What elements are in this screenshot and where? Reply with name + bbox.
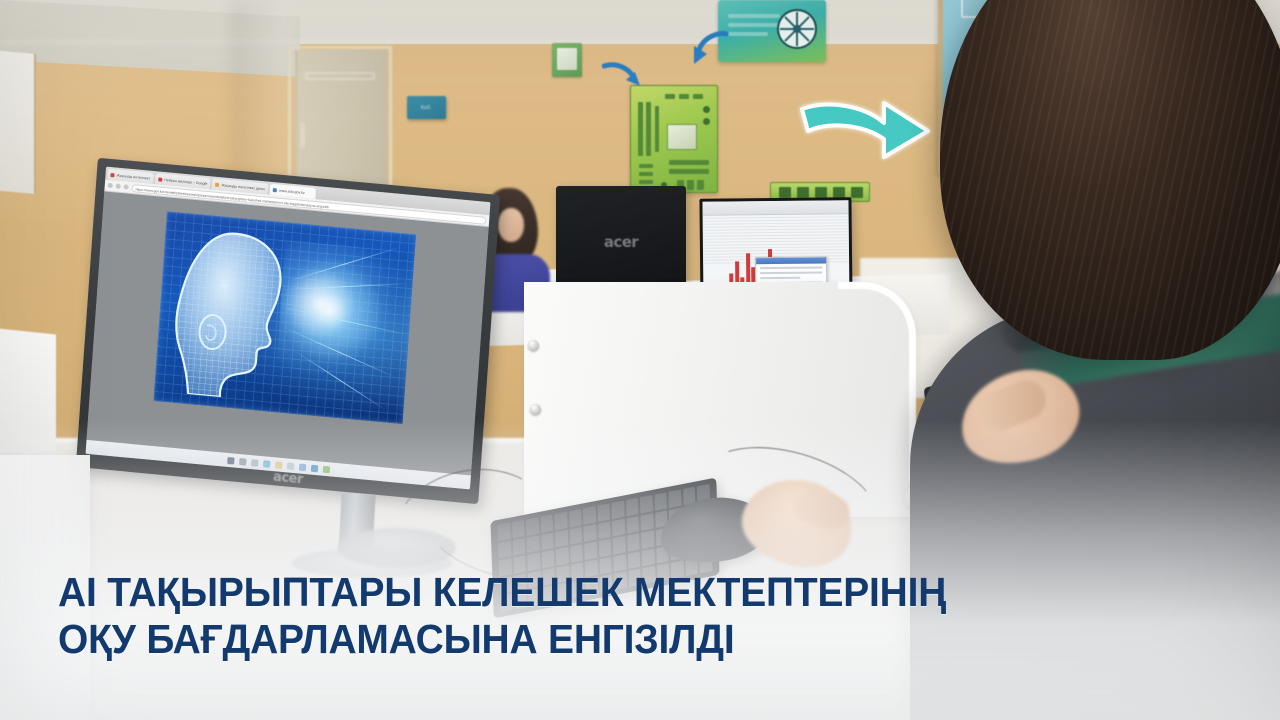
browser-tab-label: Жасанды интеллект (116, 173, 150, 180)
reload-icon[interactable] (124, 184, 129, 189)
door-sign-label: Каб. (421, 105, 432, 111)
taskbar-start-icon[interactable] (227, 456, 234, 464)
browser-tab-label: Нейрон желілері – Google (164, 177, 207, 185)
ai-neural-head-image (153, 211, 416, 424)
whiteboard (0, 50, 36, 194)
wireframe-head-icon (168, 225, 307, 404)
arrow-blue-medium-icon (690, 30, 730, 70)
browser-tab-label: Жасанды интеллект деген (221, 183, 265, 191)
back-icon[interactable] (108, 183, 113, 188)
headline-line-1: AI ТАҚЫРЫПТАРЫ КЕЛЕШЕК МЕКТЕПТЕРІНІҢ (58, 569, 946, 615)
motherboard-decal-icon (630, 85, 718, 193)
monitor-screen: Жасанды интеллект Нейрон желілері – Goog… (85, 167, 490, 490)
arrow-blue-small-icon (602, 60, 642, 94)
browser-tab-label: www.edu.gov.kz (279, 188, 305, 194)
taskbar-folder-icon[interactable] (274, 461, 281, 469)
acer-logo-foreground: acer (273, 469, 304, 487)
taskbar-explorer-icon[interactable] (263, 460, 270, 468)
browser-page-body (86, 191, 488, 475)
forward-icon[interactable] (116, 184, 121, 189)
partition-peg (530, 404, 541, 415)
door-sign-plaque: Каб. (407, 96, 446, 119)
graphics-card-decal-icon (718, 0, 826, 62)
spreadsheet-ribbon (702, 200, 848, 216)
taskbar-app-icon[interactable] (286, 462, 293, 470)
cpu-chip-decal-icon (552, 43, 582, 77)
news-banner-image: Каб. (0, 0, 1280, 720)
door-panel (305, 72, 375, 80)
taskbar-edge-icon[interactable] (298, 463, 305, 471)
acer-logo-background: acer (604, 233, 638, 251)
taskbar-taskview-icon[interactable] (251, 459, 258, 467)
taskbar-excel-icon[interactable] (322, 465, 329, 473)
student-hair (940, 0, 1280, 360)
headline-line-2: ОҚУ БАҒДАРЛАМАСЫНА ЕНГІЗІЛДІ (58, 616, 734, 662)
partition-peg (528, 340, 539, 351)
left-wall-panel (0, 325, 56, 474)
foreground-monitor: Жасанды интеллект Нейрон желілері – Goog… (86, 176, 506, 506)
taskbar-search-icon[interactable] (239, 458, 246, 466)
headline: AI ТАҚЫРЫПТАРЫ КЕЛЕШЕК МЕКТЕПТЕРІНІҢОҚУ … (58, 569, 1008, 664)
taskbar-browser-icon[interactable] (310, 464, 317, 472)
door-handle (300, 122, 305, 148)
